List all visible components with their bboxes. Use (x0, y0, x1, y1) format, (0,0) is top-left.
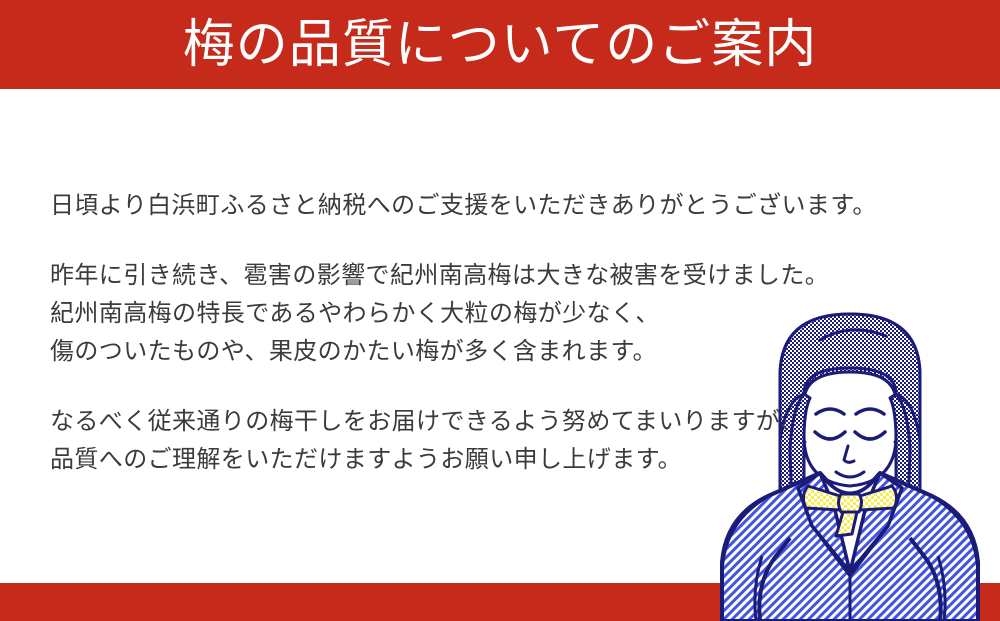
paragraph-2-line-1: 昨年に引き続き、雹害の影響で紀州南高梅は大きな被害を受けました。 (50, 256, 880, 294)
paragraph-spacer-2 (50, 370, 880, 402)
page-root: 梅の品質についてのご案内 日頃より白浜町ふるさと納税へのご支援をいただきありがと… (0, 0, 1000, 621)
ribbon-knot (839, 494, 862, 512)
paragraph-2-line-3: 傷のついたものや、果皮のかたい梅が多く含まれます。 (50, 332, 880, 370)
page-title: 梅の品質についてのご案内 (183, 19, 817, 71)
paragraph-3-line-1: なるべく従来通りの梅干しをお届けできるよう努めてまいりますが、 (50, 402, 880, 440)
paragraph-1: 日頃より白浜町ふるさと納税へのご支援をいただきありがとうございます。 (50, 186, 880, 224)
body-text-block: 日頃より白浜町ふるさと納税へのご支援をいただきありがとうございます。 昨年に引き… (50, 186, 880, 478)
header-banner: 梅の品質についてのご案内 (0, 0, 1000, 89)
paragraph-spacer-1 (50, 224, 880, 256)
paragraph-3: なるべく従来通りの梅干しをお届けできるよう努めてまいりますが、 品質へのご理解を… (50, 402, 880, 478)
paragraph-2: 昨年に引き続き、雹害の影響で紀州南高梅は大きな被害を受けました。 紀州南高梅の特… (50, 256, 880, 370)
paragraph-2-line-2: 紀州南高梅の特長であるやわらかく大粒の梅が少なく、 (50, 294, 880, 332)
paragraph-3-line-2: 品質へのご理解をいただけますようお願い申し上げます。 (50, 440, 880, 478)
paragraph-1-line-1: 日頃より白浜町ふるさと納税へのご支援をいただきありがとうございます。 (50, 186, 880, 224)
